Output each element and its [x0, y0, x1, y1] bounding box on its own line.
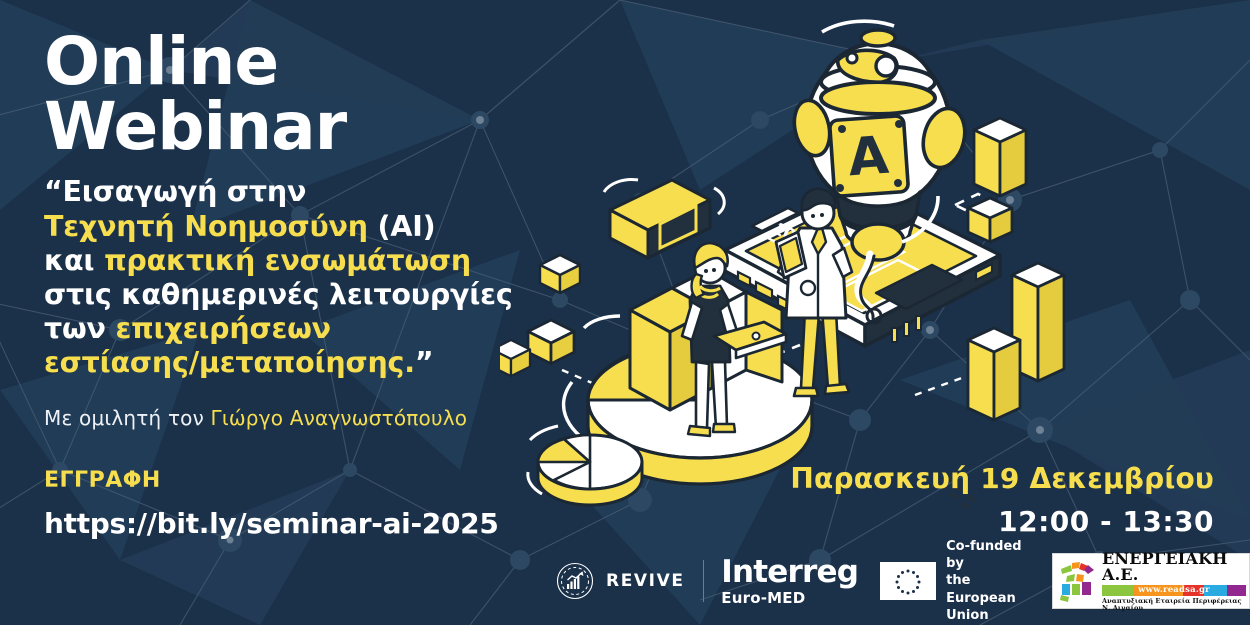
subtitle-highlight-ai: Τεχνητή Νοημοσύνη — [44, 210, 368, 243]
subtitle-text-1: Εισαγωγή στην — [63, 175, 307, 208]
energeiaki-url[interactable]: www.readsa.gr — [1102, 585, 1246, 596]
registration-label: ΕΓΓΡΑΦΗ — [44, 468, 564, 493]
eu-flag-icon — [880, 562, 936, 600]
subtitle-block: “Εισαγωγή στην Τεχνητή Νοημοσύνη (AI) κα… — [44, 175, 564, 380]
energeiaki-title: ΕΝΕΡΓΕΙΑΚΗ Α.Ε. — [1102, 551, 1246, 583]
close-quote: ” — [415, 346, 434, 379]
subtitle-line-1: “Εισαγωγή στην — [44, 175, 564, 209]
page-title-line2: Webinar — [44, 95, 564, 160]
subtitle-text-3: στις καθημερινές λειτουργίες — [44, 278, 513, 311]
event-time: 12:00 - 13:30 — [790, 505, 1214, 538]
subtitle-line-3: και πρακτική ενσωμάτωση — [44, 244, 564, 278]
subtitle-text-ai-abbrev: (AI) — [368, 210, 436, 243]
registration-url-link[interactable]: https://bit.ly/seminar-ai-2025 — [44, 507, 564, 540]
eu-text-line1: Co-funded by — [946, 538, 1032, 572]
revive-logo: REVIVE — [556, 562, 685, 600]
dashed-connector — [915, 375, 970, 395]
ai-isometric-illustration: 1000 $ — [500, 10, 1120, 530]
subtitle-highlight-businesses: επιχειρήσεων — [116, 312, 331, 345]
interreg-programme: Euro-MED — [721, 591, 858, 606]
revive-wordmark: REVIVE — [606, 571, 685, 591]
subtitle-line-4: στις καθημερινές λειτουργίες — [44, 278, 564, 312]
eu-cofunding-text: Co-funded by the European Union — [946, 538, 1032, 624]
headline-block: Online Webinar “Εισαγωγή στην Τεχνητή Νο… — [44, 30, 564, 540]
interreg-wordmark: Interreg — [721, 557, 858, 588]
subtitle-text-4: των — [44, 312, 116, 345]
eu-cofunding-logo: Co-funded by the European Union — [880, 538, 1032, 624]
subtitle-highlight-integration: πρακτική ενσωμάτωση — [104, 244, 471, 277]
page-title-line1: Online — [44, 30, 564, 95]
webinar-banner: 1000 $ — [0, 0, 1250, 625]
logo-divider — [703, 560, 704, 602]
subtitle-line-2: Τεχνητή Νοημοσύνη (AI) — [44, 210, 564, 244]
energeiaki-colored-mark — [1057, 559, 1099, 603]
circular-growth-chart-icon — [556, 562, 594, 600]
interreg-logo: Interreg Euro-MED — [721, 557, 858, 606]
open-quote: “ — [44, 175, 63, 208]
speaker-line: Με ομιλητή τον Γιώργο Αναγνωστόπουλο — [44, 406, 564, 430]
schedule-block: Παρασκευή 19 Δεκεμβρίου 12:00 - 13:30 — [790, 462, 1214, 538]
robot-badge-letter: A — [846, 126, 890, 189]
partner-logo-bar: REVIVE Interreg Euro-MED — [556, 549, 1250, 613]
subtitle-line-6: εστίασης/μεταποίησης.” — [44, 346, 564, 380]
energeiaki-color-bars: www.readsa.gr — [1102, 585, 1246, 596]
speaker-prefix: Με ομιλητή τον — [44, 406, 211, 430]
energeiaki-logo: ΕΝΕΡΓΕΙΑΚΗ Α.Ε. www.readsa.gr Αναπτυξιακ… — [1052, 553, 1250, 609]
subtitle-text-2: και — [44, 244, 104, 277]
subtitle-line-5: των επιχειρήσεων — [44, 312, 564, 346]
speaker-name: Γιώργο Αναγνωστόπουλο — [211, 406, 468, 430]
energeiaki-subtitle: Αναπτυξιακή Εταιρεία Περιφέρειας Ν. Αιγα… — [1102, 598, 1246, 611]
eu-text-line2: the European Union — [946, 572, 1032, 623]
subtitle-highlight-sectors: εστίασης/μεταποίησης. — [44, 346, 415, 379]
event-date: Παρασκευή 19 Δεκεμβρίου — [790, 462, 1214, 495]
